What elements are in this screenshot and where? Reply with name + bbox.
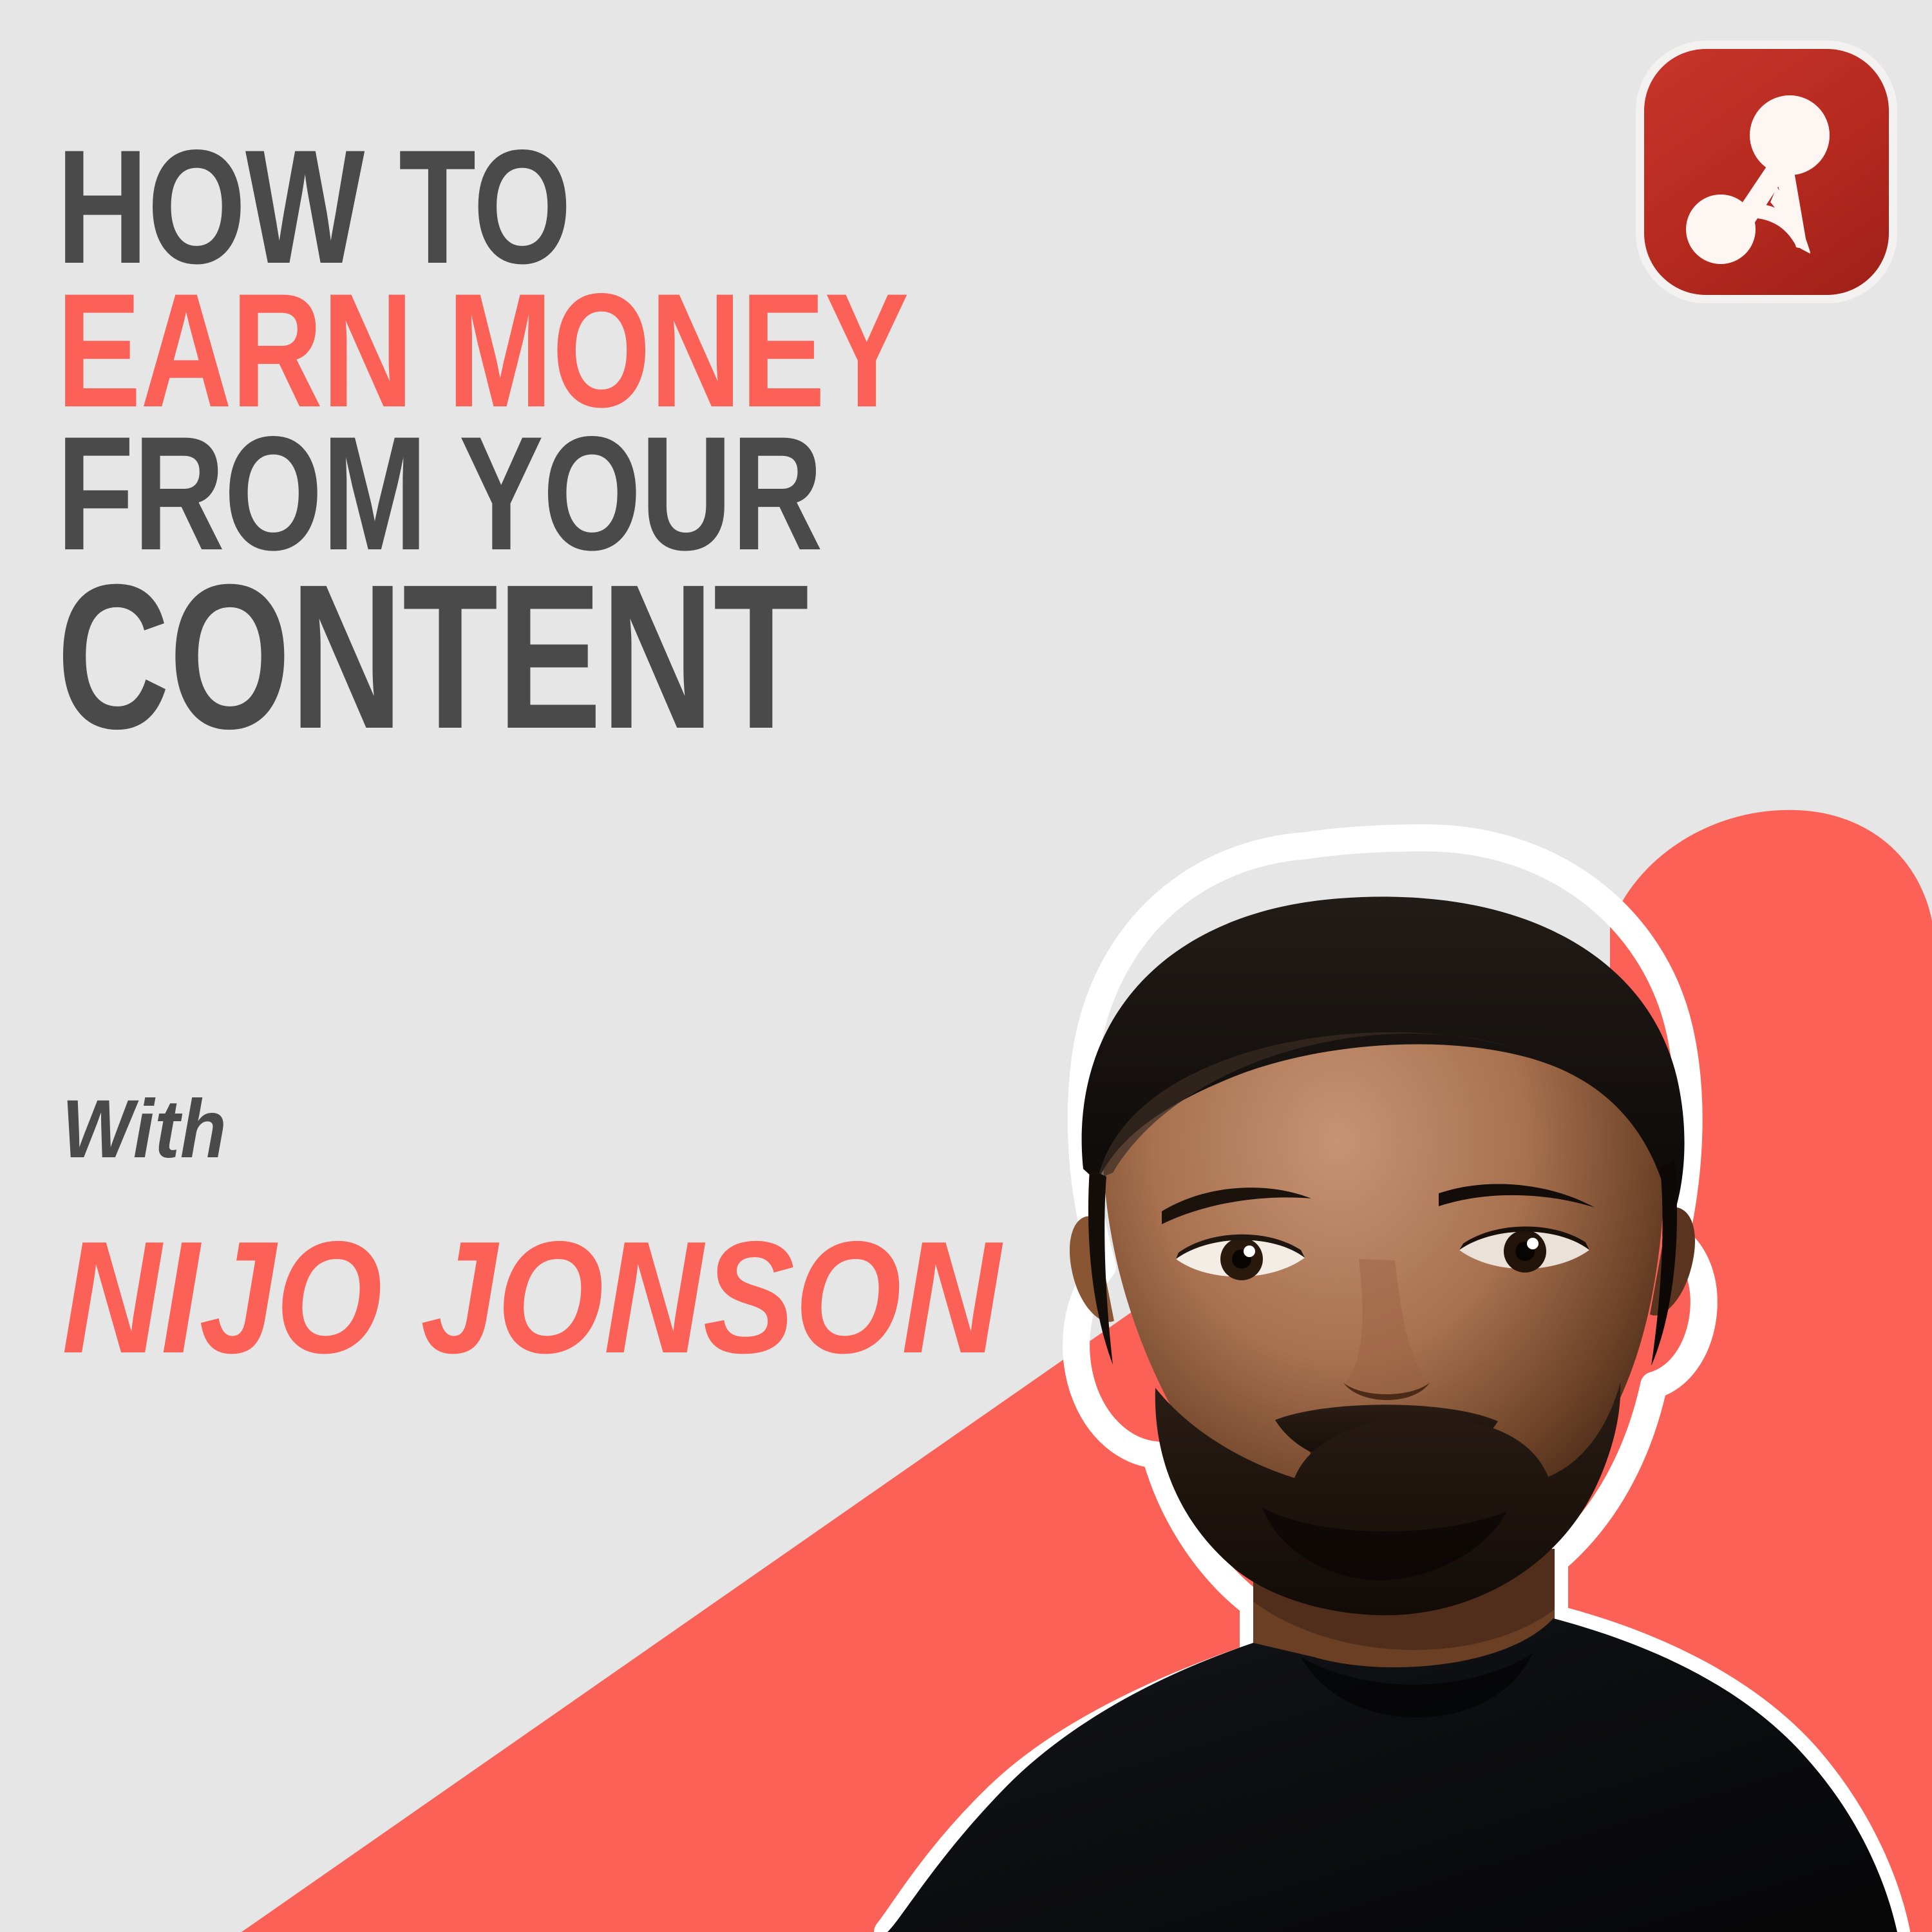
presenter-credit: With NIJO JONSON <box>62 1088 1153 1377</box>
podcast-cover-poster: HOW TO EARN MONEY FROM YOUR CONTENT With… <box>0 0 1932 1932</box>
credit-prefix: With <box>62 1088 1066 1171</box>
headline-line-2: EARN MONEY <box>57 281 1112 421</box>
headline-block: HOW TO EARN MONEY FROM YOUR CONTENT <box>57 138 1409 745</box>
music-note-a-icon <box>1644 49 1889 295</box>
headline-line-4: CONTENT <box>57 568 1084 745</box>
brand-logo[interactable] <box>1644 49 1889 295</box>
presenter-name: NIJO JONSON <box>62 1217 1001 1377</box>
headline-line-1: HOW TO <box>57 138 1112 278</box>
